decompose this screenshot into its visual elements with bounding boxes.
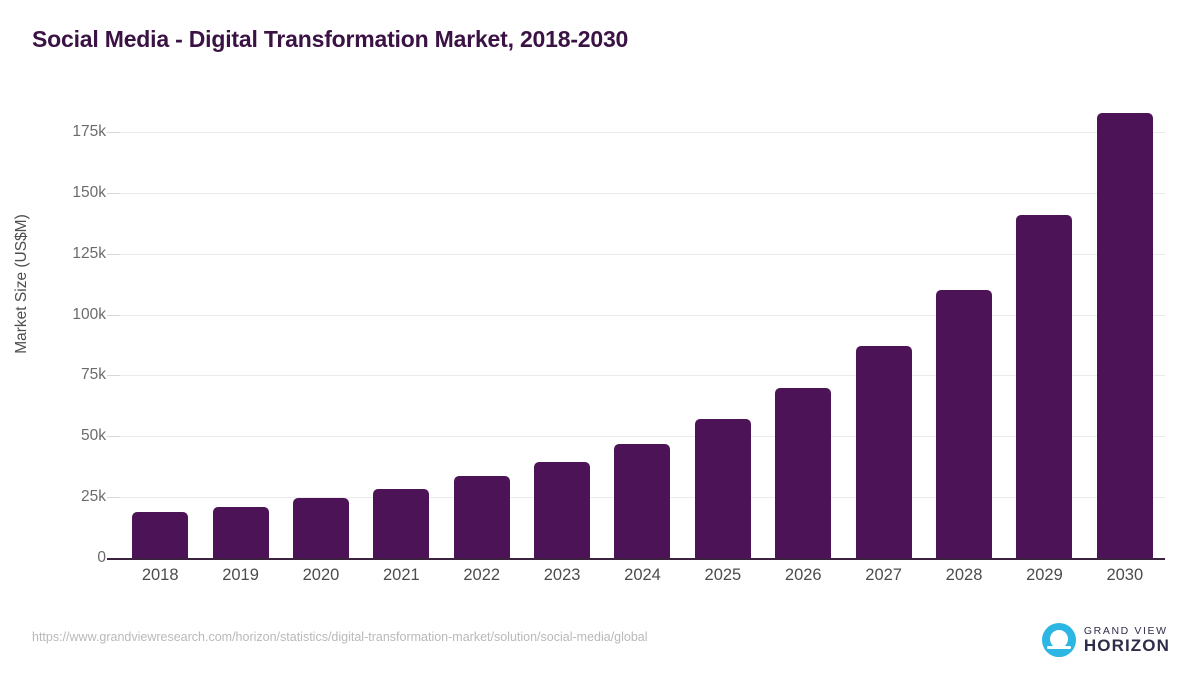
x-axis-tick-label: 2027 xyxy=(865,566,902,585)
bar-slot xyxy=(442,132,522,558)
bar[interactable] xyxy=(775,388,831,558)
x-axis-tick-label: 2024 xyxy=(624,566,661,585)
x-axis-tick-label: 2029 xyxy=(1026,566,1063,585)
bar[interactable] xyxy=(936,290,992,558)
bar[interactable] xyxy=(1097,113,1153,558)
horizon-line-icon xyxy=(1047,646,1071,649)
x-axis-tick-label: 2020 xyxy=(303,566,340,585)
x-axis-tick-label: 2018 xyxy=(142,566,179,585)
y-axis-tick xyxy=(107,315,120,316)
y-axis-tick xyxy=(107,497,120,498)
brand-name-bottom: HORIZON xyxy=(1084,637,1170,655)
bar[interactable] xyxy=(534,462,590,558)
y-axis-tick xyxy=(107,375,120,376)
bar-slot xyxy=(120,132,200,558)
brand-logo: GRAND VIEW HORIZON xyxy=(1042,623,1170,657)
brand-logo-text: GRAND VIEW HORIZON xyxy=(1084,626,1170,655)
y-axis-tick-label: 25k xyxy=(81,488,106,506)
y-axis-tick xyxy=(107,436,120,437)
bar-slot xyxy=(924,132,1004,558)
bar[interactable] xyxy=(1016,215,1072,558)
bar[interactable] xyxy=(373,489,429,558)
bar[interactable] xyxy=(132,512,188,558)
y-axis-tick-label: 50k xyxy=(81,427,106,445)
x-axis-tick-label: 2022 xyxy=(463,566,500,585)
page-title: Social Media - Digital Transformation Ma… xyxy=(32,26,628,53)
y-axis-tick xyxy=(107,193,120,194)
chart-page: Social Media - Digital Transformation Ma… xyxy=(0,0,1200,675)
bar-slot xyxy=(843,132,923,558)
y-axis-tick xyxy=(107,254,120,255)
bar[interactable] xyxy=(213,507,269,558)
x-axis-tick-label: 2025 xyxy=(705,566,742,585)
bar-slot xyxy=(522,132,602,558)
bar-slot xyxy=(361,132,441,558)
x-axis-tick-label: 2019 xyxy=(222,566,259,585)
y-axis-tick-label: 125k xyxy=(72,245,106,263)
horizon-circle-icon xyxy=(1042,623,1076,657)
bar[interactable] xyxy=(856,346,912,558)
x-axis-tick-label: 2030 xyxy=(1106,566,1143,585)
y-axis-tick-label: 100k xyxy=(72,306,106,324)
bar-series xyxy=(120,132,1165,558)
bar-slot xyxy=(763,132,843,558)
bar-slot xyxy=(1004,132,1084,558)
y-axis-tick-label: 75k xyxy=(81,366,106,384)
bar-slot xyxy=(683,132,763,558)
x-axis-tick-label: 2028 xyxy=(946,566,983,585)
x-axis-tick-label: 2026 xyxy=(785,566,822,585)
y-axis-tick-label: 0 xyxy=(97,549,106,567)
x-axis-tick-label: 2021 xyxy=(383,566,420,585)
bar[interactable] xyxy=(454,476,510,558)
x-axis-tick-labels: 2018201920202021202220232024202520262027… xyxy=(120,566,1165,596)
bar[interactable] xyxy=(614,444,670,558)
brand-name-top: GRAND VIEW xyxy=(1084,626,1170,637)
y-axis-tick xyxy=(107,132,120,133)
y-axis-tick-label: 150k xyxy=(72,184,106,202)
bar-slot xyxy=(602,132,682,558)
bar[interactable] xyxy=(293,498,349,558)
y-axis-tick-label: 175k xyxy=(72,123,106,141)
bar-slot xyxy=(281,132,361,558)
y-axis-tick-labels: 025k50k75k100k125k150k175k xyxy=(60,132,106,558)
y-axis-title: Market Size (US$M) xyxy=(13,94,31,474)
bar-slot xyxy=(1085,132,1165,558)
bar[interactable] xyxy=(695,419,751,558)
x-axis-tick-label: 2023 xyxy=(544,566,581,585)
bar-slot xyxy=(200,132,280,558)
x-axis-line xyxy=(107,558,1165,560)
source-url[interactable]: https://www.grandviewresearch.com/horizo… xyxy=(32,630,648,644)
